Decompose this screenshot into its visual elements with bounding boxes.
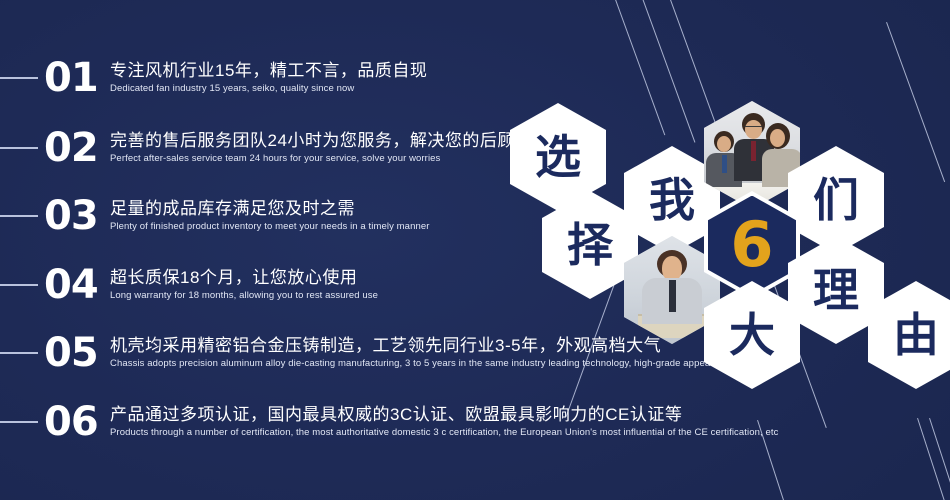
reason-lead-line — [0, 215, 38, 217]
hex-glyph-six: 6 — [730, 214, 773, 276]
photo-person-glasses — [745, 126, 762, 130]
hex-glyph-xuan: 选 — [535, 134, 581, 180]
reason-number: 01 — [44, 58, 108, 98]
hex-glyph-men: 们 — [813, 177, 859, 223]
decor-diagonal-line-7 — [917, 418, 948, 500]
hex-glyph-li: 理 — [813, 267, 859, 313]
reason-title-cn: 机壳均采用精密铝合金压铸制造，工艺领先同行业3-5年，外观高档大气 — [110, 335, 788, 356]
reason-title-cn: 专注风机行业15年，精工不言，品质自现 — [110, 60, 427, 81]
decor-diagonal-line-4 — [886, 22, 945, 182]
reason-lead-line — [0, 147, 38, 149]
hex-glyph-da: 大 — [729, 312, 775, 358]
hex-six-inner: 6 — [708, 196, 796, 295]
reason-number: 06 — [44, 402, 108, 442]
reason-title-cn: 完善的售后服务团队24小时为您服务，解决您的后顾之忧 — [110, 130, 550, 151]
reason-row-06: 06 产品通过多项认证，国内最具权威的3C认证、欧盟最具影响力的CE认证等 Pr… — [0, 396, 778, 448]
reason-lead-line — [0, 77, 38, 79]
reason-title-en: Chassis adopts precision aluminum alloy … — [110, 358, 788, 370]
reason-title-en: Dedicated fan industry 15 years, seiko, … — [110, 83, 427, 95]
reason-lead-line — [0, 284, 38, 286]
reason-title-cn: 超长质保18个月，让您放心使用 — [110, 267, 378, 288]
hex-glyph-ze: 择 — [567, 222, 613, 268]
reason-lead-line — [0, 352, 38, 354]
reason-number: 03 — [44, 196, 108, 236]
reason-title-cn: 产品通过多项认证，国内最具权威的3C认证、欧盟最具影响力的CE认证等 — [110, 404, 778, 425]
reason-title-en: Products through a number of certificati… — [110, 427, 778, 439]
decor-diagonal-line-1 — [613, 0, 666, 135]
reason-title-en: Long warranty for 18 months, allowing yo… — [110, 290, 378, 302]
reason-title-cn: 足量的成品库存满足您及时之需 — [110, 198, 429, 219]
photo-man-tie — [669, 280, 676, 312]
decor-diagonal-line-2 — [639, 0, 696, 143]
decor-diagonal-line-8 — [929, 418, 950, 500]
reason-number: 04 — [44, 265, 108, 305]
photo-person-tie — [751, 141, 756, 161]
reason-row-02: 02 完善的售后服务团队24小时为您服务，解决您的后顾之忧 Perfect af… — [0, 122, 550, 174]
reason-title-en: Plenty of finished product inventory to … — [110, 221, 429, 233]
reason-row-04: 04 超长质保18个月，让您放心使用 Long warranty for 18 … — [0, 259, 378, 311]
reason-number: 02 — [44, 128, 108, 168]
hex-glyph-you: 由 — [893, 312, 939, 358]
reason-title-en: Perfect after-sales service team 24 hour… — [110, 153, 550, 165]
banner-root: 01 专注风机行业15年，精工不言，品质自现 Dedicated fan ind… — [0, 0, 950, 500]
reason-lead-line — [0, 421, 38, 423]
reason-row-01: 01 专注风机行业15年，精工不言，品质自现 Dedicated fan ind… — [0, 52, 427, 104]
hex-glyph-wo: 我 — [649, 177, 695, 223]
reason-row-03: 03 足量的成品库存满足您及时之需 Plenty of finished pro… — [0, 190, 429, 242]
reason-number: 05 — [44, 333, 108, 373]
photo-person-face — [770, 129, 785, 147]
photo-person-tie — [722, 155, 727, 173]
photo-person-face — [717, 136, 731, 152]
